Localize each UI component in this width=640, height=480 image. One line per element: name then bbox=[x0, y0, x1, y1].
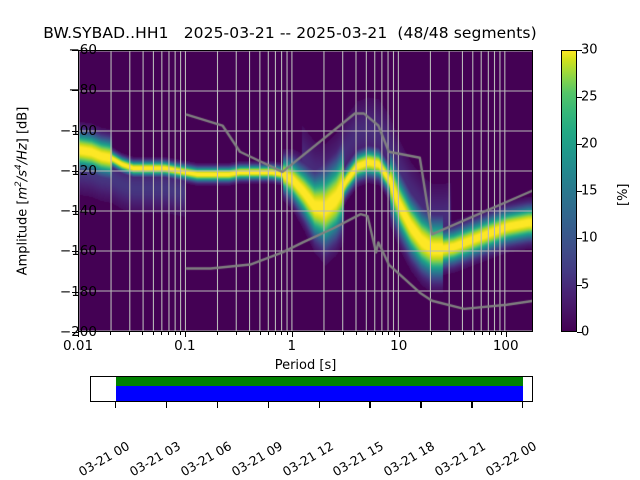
timeline-tick-label: 03-21 09 bbox=[228, 438, 284, 479]
x-axis-minor-tick bbox=[142, 332, 143, 335]
ppsd-plot-area bbox=[78, 50, 533, 332]
x-axis-minor-tick bbox=[161, 332, 162, 335]
x-axis-minor-tick bbox=[268, 332, 269, 335]
y-axis-tick-label: −120 bbox=[60, 163, 97, 179]
colorbar-tick-mark bbox=[577, 191, 582, 192]
noise-model-curves bbox=[79, 51, 533, 332]
colorbar-label: [%] bbox=[616, 184, 631, 207]
timeline-gaps-bar bbox=[116, 377, 523, 386]
x-axis-minor-tick bbox=[129, 332, 130, 335]
colorbar-tick-mark bbox=[577, 332, 582, 333]
y-axis-label: Amplitude [m2/s4/Hz] [dB] bbox=[14, 50, 30, 332]
colorbar-tick-label: 30 bbox=[581, 43, 598, 58]
timeline-tick-mark bbox=[319, 402, 320, 408]
x-axis-minor-tick bbox=[367, 332, 368, 335]
timeline-tick-mark bbox=[166, 402, 167, 408]
colorbar-tick-mark bbox=[577, 97, 582, 98]
x-axis-minor-tick bbox=[382, 332, 383, 335]
x-axis-tick-label: 0.1 bbox=[174, 338, 195, 354]
timeline-tick-mark bbox=[369, 402, 370, 408]
timeline-data-bar bbox=[116, 386, 523, 401]
x-axis-tick-mark bbox=[292, 332, 293, 337]
y-axis-tick-mark bbox=[72, 90, 78, 91]
colorbar-tick-mark bbox=[577, 144, 582, 145]
x-axis-minor-tick bbox=[474, 332, 475, 335]
colorbar-tick-mark bbox=[577, 238, 582, 239]
ppsd-figure: BW.SYBAD..HH1 2025-03-21 -- 2025-03-21 (… bbox=[0, 0, 640, 480]
x-axis-minor-tick bbox=[394, 332, 395, 335]
x-axis-minor-tick bbox=[324, 332, 325, 335]
x-axis-minor-tick bbox=[180, 332, 181, 335]
y-axis-tick-mark bbox=[72, 251, 78, 252]
x-axis-minor-tick bbox=[463, 332, 464, 335]
x-axis-minor-tick bbox=[501, 332, 502, 335]
x-axis-minor-tick bbox=[175, 332, 176, 335]
x-axis-tick-label: 1 bbox=[288, 338, 297, 354]
x-axis-minor-tick bbox=[489, 332, 490, 335]
y-axis-tick-mark bbox=[72, 50, 78, 51]
x-axis-minor-tick bbox=[450, 332, 451, 335]
x-axis-minor-tick bbox=[356, 332, 357, 335]
colorbar-tick-label: 0 bbox=[581, 325, 589, 340]
x-axis-tick-label: 100 bbox=[493, 338, 519, 354]
x-axis-tick-mark bbox=[399, 332, 400, 337]
timeline-tick-mark bbox=[522, 402, 523, 408]
data-coverage-timeline[interactable] bbox=[90, 376, 533, 402]
timeline-tick-label: 03-21 03 bbox=[127, 438, 183, 479]
timeline-tick-label: 03-21 15 bbox=[330, 438, 386, 479]
x-axis-minor-tick bbox=[236, 332, 237, 335]
timeline-tick-mark bbox=[420, 402, 421, 408]
timeline-tick-label: 03-22 00 bbox=[483, 438, 539, 479]
timeline-tick-mark bbox=[217, 402, 218, 408]
colorbar-tick-mark bbox=[577, 50, 582, 51]
x-axis-minor-tick bbox=[217, 332, 218, 335]
y-axis-tick-mark bbox=[72, 131, 78, 132]
x-axis-minor-tick bbox=[110, 332, 111, 335]
y-axis-tick-mark bbox=[72, 171, 78, 172]
x-axis-minor-tick bbox=[343, 332, 344, 335]
y-axis-tick-mark bbox=[72, 211, 78, 212]
timeline-tick-label: 03-21 06 bbox=[178, 438, 234, 479]
colorbar-tick-label: 20 bbox=[581, 137, 598, 152]
x-axis-tick-label: 10 bbox=[390, 338, 407, 354]
y-axis-tick-label: −180 bbox=[60, 284, 97, 300]
colorbar bbox=[561, 50, 577, 332]
colorbar-tick-label: 10 bbox=[581, 231, 598, 246]
timeline-tick-label: 03-21 12 bbox=[279, 438, 335, 479]
y-axis-tick-mark bbox=[72, 292, 78, 293]
timeline-tick-label: 03-21 21 bbox=[432, 438, 488, 479]
x-axis-tick-mark bbox=[185, 332, 186, 337]
x-axis-tick-mark bbox=[78, 332, 79, 337]
colorbar-tick-label: 5 bbox=[581, 278, 589, 293]
x-axis-minor-tick bbox=[168, 332, 169, 335]
x-axis-minor-tick bbox=[375, 332, 376, 335]
x-axis-minor-tick bbox=[431, 332, 432, 335]
x-axis-minor-tick bbox=[287, 332, 288, 335]
y-axis-tick-label: −160 bbox=[60, 243, 97, 259]
y-axis-tick-label: −100 bbox=[60, 123, 97, 139]
x-axis-minor-tick bbox=[281, 332, 282, 335]
timeline-tick-mark bbox=[268, 402, 269, 408]
y-axis-tick-label: −140 bbox=[60, 203, 97, 219]
timeline-tick-label: 03-21 00 bbox=[76, 438, 132, 479]
x-axis-minor-tick bbox=[275, 332, 276, 335]
figure-title: BW.SYBAD..HH1 2025-03-21 -- 2025-03-21 (… bbox=[0, 24, 580, 42]
colorbar-tick-mark bbox=[577, 285, 582, 286]
x-axis-tick-label: 0.01 bbox=[63, 338, 93, 354]
colorbar-tick-label: 15 bbox=[581, 184, 598, 199]
x-axis-minor-tick bbox=[153, 332, 154, 335]
x-axis-minor-tick bbox=[482, 332, 483, 335]
timeline-tick-mark bbox=[471, 402, 472, 408]
x-axis-minor-tick bbox=[249, 332, 250, 335]
x-axis-minor-tick bbox=[260, 332, 261, 335]
timeline-tick-label: 03-21 18 bbox=[381, 438, 437, 479]
x-axis-tick-mark bbox=[506, 332, 507, 337]
x-axis-label: Period [s] bbox=[78, 358, 533, 373]
x-axis-minor-tick bbox=[495, 332, 496, 335]
colorbar-tick-label: 25 bbox=[581, 90, 598, 105]
timeline-tick-mark bbox=[115, 402, 116, 408]
x-axis-minor-tick bbox=[388, 332, 389, 335]
